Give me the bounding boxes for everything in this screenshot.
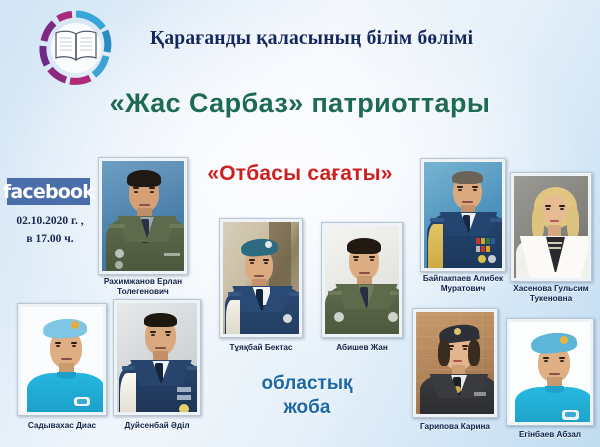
person-name-line2: Тукеновна bbox=[510, 294, 592, 304]
page-title: Қарағанды қаласының білім бөлімі bbox=[150, 28, 590, 50]
person-name: Садывахас Диас bbox=[17, 416, 107, 431]
project-label-line1: областық bbox=[222, 372, 392, 396]
person-name: Рахимжанов Ерлан Толегенович bbox=[98, 275, 188, 298]
person-name-line1: Гарипова Карина bbox=[412, 422, 498, 432]
person-card-baipakpaev: Байпакпаев Алибек Муратович bbox=[420, 158, 506, 295]
person-name: Абишев Жан bbox=[321, 338, 403, 353]
portrait-photo bbox=[325, 226, 399, 334]
person-card-garipova: Гарипова Карина bbox=[412, 308, 498, 432]
event-datetime: 02.10.2020 г. , в 17.00 ч. bbox=[0, 213, 100, 249]
person-name-line1: Егінбаев Абзал bbox=[506, 430, 594, 440]
photo-frame bbox=[17, 303, 107, 416]
open-book-emblem-icon bbox=[34, 6, 118, 90]
portrait-photo bbox=[416, 312, 494, 414]
person-name: Дуйсенбай Әділ bbox=[113, 416, 201, 431]
person-name-line1: Байпакпаев Алибек bbox=[420, 274, 506, 284]
photo-frame bbox=[219, 218, 303, 338]
photo-frame bbox=[412, 308, 498, 418]
photo-frame bbox=[98, 157, 188, 275]
photo-frame bbox=[506, 318, 594, 426]
photo-frame bbox=[510, 172, 592, 282]
project-label: областық жоба bbox=[222, 372, 392, 420]
person-card-khasenova: Хасенова Гульсим Тукеновна bbox=[510, 172, 592, 305]
person-name-line1: Садывахас Диас bbox=[17, 421, 107, 431]
person-name-line2: Толегенович bbox=[98, 287, 188, 297]
project-label-line2: жоба bbox=[222, 396, 392, 420]
person-name: Тұяқбай Бектас bbox=[219, 338, 303, 353]
poster-canvas: Қарағанды қаласының білім бөлімі «Жас Са… bbox=[0, 0, 600, 447]
photo-frame bbox=[420, 158, 506, 272]
photo-frame bbox=[113, 299, 201, 416]
person-name-line2: Муратович bbox=[420, 284, 506, 294]
portrait-photo bbox=[514, 176, 588, 278]
portrait-photo bbox=[510, 322, 590, 422]
person-card-yeginbaev: Егінбаев Абзал bbox=[506, 318, 594, 440]
person-name-line1: Хасенова Гульсим bbox=[510, 284, 592, 294]
program-title: «Жас Сарбаз» патриоттары bbox=[0, 88, 600, 119]
person-name-line1: Рахимжанов Ерлан bbox=[98, 277, 188, 287]
person-card-sadyvakhas: Садывахас Диас bbox=[17, 303, 107, 431]
event-date: 02.10.2020 г. , bbox=[0, 213, 100, 231]
person-name: Байпакпаев Алибек Муратович bbox=[420, 272, 506, 295]
person-name: Гарипова Карина bbox=[412, 418, 498, 432]
event-time: в 17.00 ч. bbox=[0, 231, 100, 249]
photo-frame bbox=[321, 222, 403, 338]
person-card-tuyakbai: Тұяқбай Бектас bbox=[219, 218, 303, 353]
portrait-photo bbox=[21, 307, 103, 412]
person-name-line1: Абишев Жан bbox=[321, 343, 403, 353]
portrait-photo bbox=[424, 162, 502, 268]
portrait-photo bbox=[223, 222, 299, 334]
facebook-logo[interactable]: facebook bbox=[7, 178, 90, 205]
person-name: Егінбаев Абзал bbox=[506, 426, 594, 440]
person-card-rakhimzhanov: Рахимжанов Ерлан Толегенович bbox=[98, 157, 188, 298]
portrait-photo bbox=[117, 303, 197, 412]
person-name-line1: Дуйсенбай Әділ bbox=[113, 421, 201, 431]
facebook-wordmark: facebook bbox=[3, 181, 94, 203]
person-name: Хасенова Гульсим Тукеновна bbox=[510, 282, 592, 305]
person-name-line1: Тұяқбай Бектас bbox=[219, 343, 303, 353]
person-card-abishev: Абишев Жан bbox=[321, 222, 403, 353]
portrait-photo bbox=[102, 161, 184, 271]
person-card-duisenbai: Дуйсенбай Әділ bbox=[113, 299, 201, 431]
